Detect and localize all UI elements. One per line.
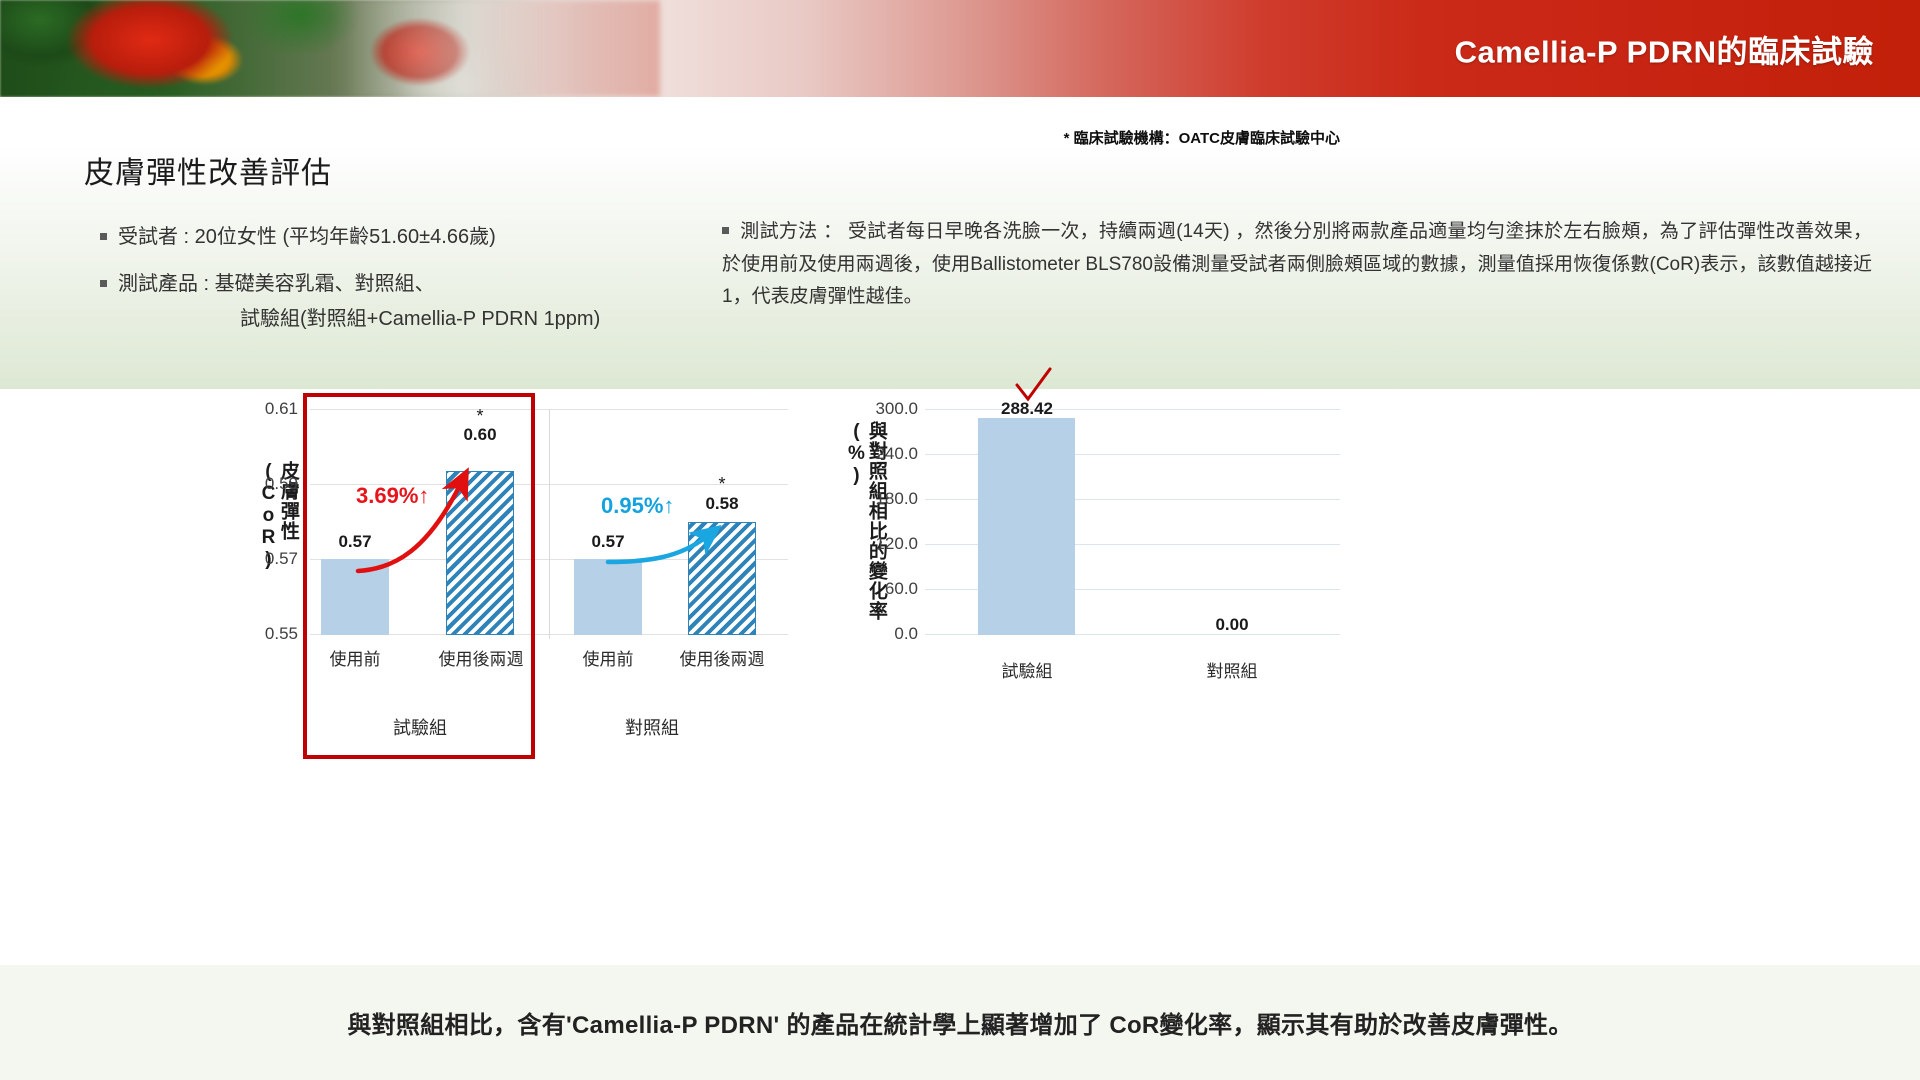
rate-xlabel-control: 對照組 — [1175, 657, 1289, 682]
rate-ytick-2: 180.0 — [872, 489, 918, 509]
cor-ytick-3: 0.55 — [236, 624, 298, 644]
rate-value-control: 0.00 — [1180, 615, 1284, 635]
cor-xlabel-control-before: 使用前 — [558, 645, 658, 670]
slide-header: Camellia-P PDRN的臨床試驗 — [0, 0, 1920, 97]
bullet-subjects: 受試者 : 20位女性 (平均年齡51.60±4.66歲) — [100, 222, 496, 252]
rate-xlabel-test: 試驗組 — [970, 657, 1084, 682]
bullet-subjects-text: 受試者 : 20位女性 (平均年齡51.60±4.66歲) — [118, 226, 496, 248]
slide-root: Camellia-P PDRN的臨床試驗 * 臨床試驗機構：OATC皮膚臨床試驗… — [0, 0, 1920, 1080]
bullet-method-text: 測試方法 ： 受試者每日早晚各洗臉一次，持續兩週(14天) ，然後分別將兩款產品… — [722, 221, 1872, 307]
cor-ytick-1: 0.59 — [236, 474, 298, 494]
rate-ytick-0: 300.0 — [872, 399, 918, 419]
growth-arrow-blue-icon — [560, 499, 780, 609]
page-title: Camellia-P PDRN的臨床試驗 — [1455, 26, 1874, 71]
bullet-square-icon — [722, 227, 729, 234]
bullet-products-text: 測試產品 : 基礎美容乳霜、對照組、 — [118, 273, 435, 295]
section-title: 皮膚彈性改善評估 — [84, 148, 332, 192]
rate-ytick-4: 60.0 — [872, 579, 918, 599]
check-mark-icon — [1012, 367, 1056, 409]
cor-ytick-2: 0.57 — [236, 549, 298, 569]
rate-ytick-5: 0.0 — [872, 624, 918, 644]
cor-significance-control-after: * — [677, 474, 767, 495]
rate-ytick-1: 240.0 — [872, 444, 918, 464]
conclusion-text: 與對照組相比，含有'Camellia-P PDRN' 的產品在統計學上顯著增加了… — [0, 1005, 1920, 1040]
bullet-method: 測試方法 ： 受試者每日早晚各洗臉一次，持續兩週(14天) ，然後分別將兩款產品… — [722, 216, 1872, 314]
charts-region: 皮膚彈性 (CoR) 0.61 0.59 0.57 0.55 0.57 0.60… — [0, 389, 1920, 965]
cor-xlabel-control-after: 使用後兩週 — [656, 645, 788, 670]
cor-ytick-0: 0.61 — [236, 399, 298, 419]
clinical-institution-note: * 臨床試驗機構：OATC皮膚臨床試驗中心 — [1064, 127, 1340, 148]
rate-bar-test — [978, 418, 1075, 635]
cor-group-label-control: 對照組 — [592, 714, 712, 740]
bullet-products: 測試產品 : 基礎美容乳霜、對照組、 — [100, 269, 435, 299]
bullet-square-icon — [100, 280, 107, 287]
rate-ytick-3: 120.0 — [872, 534, 918, 554]
bullet-products-continuation: 試驗組(對照組+Camellia-P PDRN 1ppm) — [240, 304, 600, 334]
bullet-square-icon — [100, 233, 107, 240]
test-group-highlight-box — [303, 393, 535, 759]
photo-fade-overlay — [330, 0, 660, 97]
